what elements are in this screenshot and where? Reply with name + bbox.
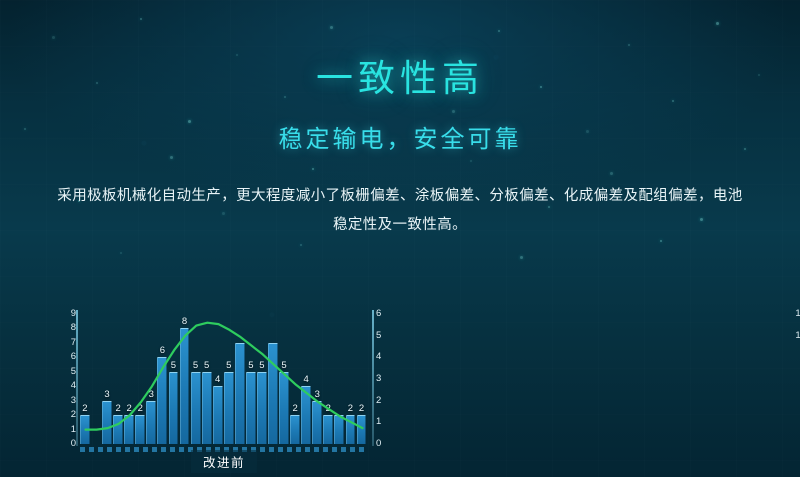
y-tick-label: 6	[376, 309, 381, 319]
y-tick-label: 2	[376, 396, 381, 406]
bar-value-label: 2	[292, 404, 297, 414]
histogram-bar: 6	[157, 357, 167, 444]
y-tick-label: 1	[376, 417, 381, 427]
x-axis-label: 改进前	[191, 450, 257, 473]
bar-value-label: 4	[215, 375, 220, 385]
bar-value-label: 5	[281, 361, 286, 371]
bar-value-label: 2	[359, 404, 364, 414]
histogram-bar: 5	[224, 372, 234, 444]
y-tick-label: 10	[795, 331, 800, 341]
slide-background: 一致性高 稳定输电，安全可靠 采用极板机械化自动生产，更大程度减小了板栅偏差、涂…	[0, 0, 800, 477]
particle-dot	[300, 244, 302, 246]
histogram-bar: 2	[80, 415, 90, 444]
histogram-bar: 5	[202, 372, 212, 444]
histogram-bar: 5	[257, 372, 267, 444]
bar-value-label: 5	[193, 361, 198, 371]
bar-value-label: 2	[127, 404, 132, 414]
page-subtitle: 稳定输电，安全可靠	[0, 119, 800, 154]
histogram-bar: 3	[312, 401, 322, 444]
histogram-bar: 5	[191, 372, 201, 444]
y-tick-label: 12	[795, 309, 800, 319]
histogram-bar: 2	[346, 415, 356, 444]
histogram-bar: 2	[290, 415, 300, 444]
bar-value-label: 5	[171, 361, 176, 371]
chart-after-improvement: 1210864206543210121113134559119842532232…	[400, 296, 800, 477]
particle-dot	[120, 252, 122, 254]
histogram-bar: 2	[124, 415, 134, 444]
histogram-bar	[268, 343, 278, 444]
bar-value-label: 6	[160, 346, 165, 356]
chart-before-improvement: 987654321065432102322236585545555243222改…	[0, 296, 400, 477]
y-axis-left-labels: 9876543210	[60, 296, 76, 456]
histogram-bar: 5	[279, 372, 289, 444]
bar-value-label: 8	[182, 317, 187, 327]
histogram-bar	[334, 415, 344, 444]
bar-value-label: 2	[348, 404, 353, 414]
histogram-bar: 2	[323, 415, 333, 444]
fitted-curve	[400, 296, 800, 477]
bar-value-label: 3	[149, 390, 154, 400]
y-axis-right-line	[372, 310, 374, 446]
bar-value-label: 5	[226, 361, 231, 371]
bar-value-label: 2	[115, 404, 120, 414]
histogram-bar: 8	[180, 328, 190, 444]
histogram-bar: 3	[102, 401, 112, 444]
histogram-bar: 5	[169, 372, 179, 444]
histogram-bar: 3	[146, 401, 156, 444]
bar-value-label: 2	[326, 404, 331, 414]
bar-value-label: 5	[248, 361, 253, 371]
y-tick-label: 4	[376, 352, 381, 362]
y-axis-left-labels: 121086420	[790, 296, 800, 456]
particle-dot	[660, 240, 662, 242]
histogram-bar: 4	[301, 386, 311, 444]
header-block: 一致性高 稳定输电，安全可靠 采用极板机械化自动生产，更大程度减小了板栅偏差、涂…	[0, 0, 800, 240]
histogram-bar: 2	[113, 415, 123, 444]
histogram-bar: 5	[246, 372, 256, 444]
particle-dot	[520, 256, 523, 259]
bar-value-label: 2	[82, 404, 87, 414]
histogram-bar: 2	[357, 415, 367, 444]
bar-value-label: 3	[104, 390, 109, 400]
bar-value-label: 3	[315, 390, 320, 400]
y-tick-label: 0	[376, 439, 381, 449]
charts-row: 987654321065432102322236585545555243222改…	[0, 296, 800, 477]
histogram-bar	[235, 343, 245, 444]
histogram-bar: 2	[135, 415, 145, 444]
histogram-bar: 4	[213, 386, 223, 444]
bars-group: 2322236585545555243222	[80, 314, 368, 444]
page-description: 采用极板机械化自动生产，更大程度减小了板栅偏差、涂板偏差、分板偏差、化成偏差及配…	[55, 182, 745, 240]
page-title: 一致性高	[0, 48, 800, 102]
y-axis-left-line	[76, 310, 78, 446]
bar-value-label: 5	[204, 361, 209, 371]
bar-value-label: 5	[259, 361, 264, 371]
bar-value-label: 4	[304, 375, 309, 385]
y-axis-right-labels: 6543210	[376, 296, 392, 456]
y-tick-label: 5	[376, 331, 381, 341]
y-tick-label: 3	[376, 374, 381, 384]
bar-value-label: 2	[138, 404, 143, 414]
